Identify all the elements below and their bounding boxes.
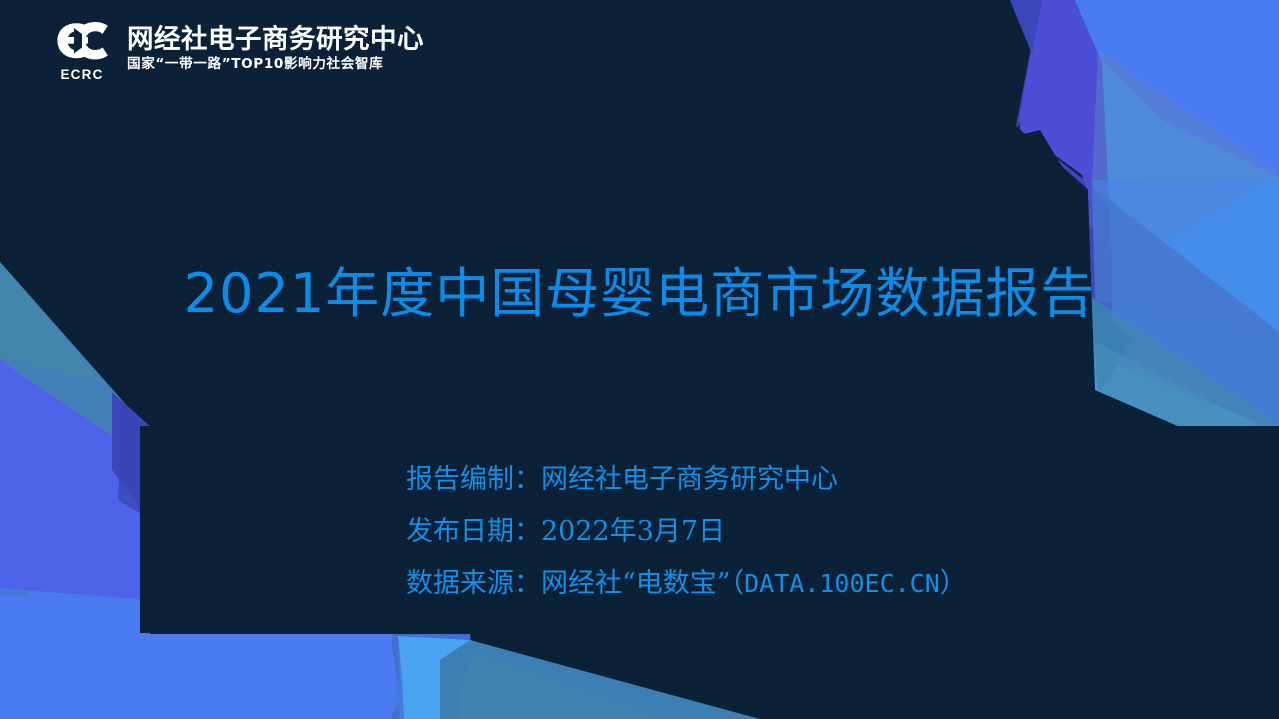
meta-line-author: 报告编制：网经社电子商务研究中心	[406, 464, 967, 495]
report-meta-list: 报告编制：网经社电子商务研究中心 发布日期：2022年3月7日 数据来源：网经社…	[406, 464, 967, 599]
slide-canvas: ECRC 网经社电子商务研究中心 国家“一带一路”TOP10影响力社会智库 20…	[0, 0, 1279, 719]
logo-abbreviation: ECRC	[48, 68, 116, 82]
logo-organization-name: 网经社电子商务研究中心	[127, 26, 424, 55]
meta-label-date: 发布日期：	[406, 516, 541, 547]
meta-value-author: 网经社电子商务研究中心	[541, 464, 838, 495]
meta-label-source: 数据来源：	[406, 568, 541, 599]
meta-source-domain: DATA.100EC.CN	[744, 569, 940, 598]
ec-monogram-icon: ECRC	[48, 20, 116, 80]
meta-line-source: 数据来源：网经社“电数宝”（DATA.100EC.CN）	[406, 568, 967, 599]
ecrc-logo: ECRC 网经社电子商务研究中心 国家“一带一路”TOP10影响力社会智库	[48, 19, 424, 81]
meta-label-author: 报告编制：	[406, 464, 541, 495]
meta-value-source: 网经社“电数宝”（	[541, 568, 744, 599]
logo-tagline: 国家“一带一路”TOP10影响力社会智库	[127, 57, 424, 72]
logo-text-group: 网经社电子商务研究中心 国家“一带一路”TOP10影响力社会智库	[127, 26, 424, 74]
meta-value-source-tail: ）	[940, 568, 967, 599]
slide-title: 2021年度中国母婴电商市场数据报告	[0, 264, 1279, 324]
meta-value-date: 2022年3月7日	[541, 516, 725, 547]
meta-line-date: 发布日期：2022年3月7日	[406, 516, 967, 547]
